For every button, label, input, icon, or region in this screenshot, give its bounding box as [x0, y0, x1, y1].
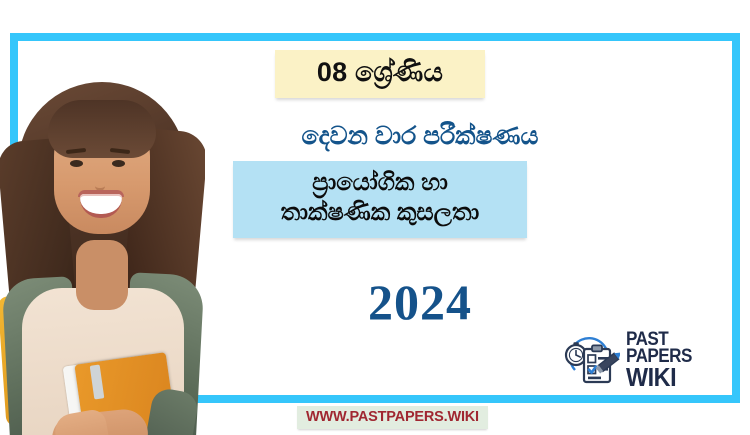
exam-year: 2024	[190, 273, 650, 331]
grade-badge: 08 ශ්‍රේණිය	[275, 50, 485, 98]
eye-right	[112, 160, 125, 167]
subject-badge: ප්‍රායෝගික හා තාක්ෂණික කුසලතා	[233, 161, 527, 238]
logo-line-2: WIKI	[626, 366, 721, 390]
neck	[76, 240, 128, 310]
cover-text-block: 08 ශ්‍රේණිය දෙවන වාර පරීක්ෂණය ප්‍රායෝගික…	[190, 33, 740, 403]
subject-line-2: තාක්ෂණික කුසලතා	[241, 198, 519, 228]
hair-fringe	[48, 100, 156, 158]
nose	[95, 172, 105, 191]
student-photo	[0, 60, 205, 435]
logo-wordmark: PAST PAPERS WIKI	[626, 331, 732, 390]
footer-url[interactable]: WWW.PASTPAPERS.WIKI	[297, 406, 488, 429]
eye-left	[70, 160, 83, 167]
exam-cover-page: 08 ශ්‍රේණිය දෙවන වාර පරීක්ෂණය ප්‍රායෝගික…	[0, 0, 750, 435]
past-papers-wiki-logo[interactable]: PAST PAPERS WIKI	[562, 329, 732, 391]
logo-line-1: PAST PAPERS	[626, 331, 721, 366]
subject-line-1: ප්‍රායෝගික හා	[241, 168, 519, 198]
stopwatch-clipboard-pen-icon	[562, 334, 620, 386]
term-title: දෙවන වාර පරීක්ෂණය	[190, 121, 650, 151]
